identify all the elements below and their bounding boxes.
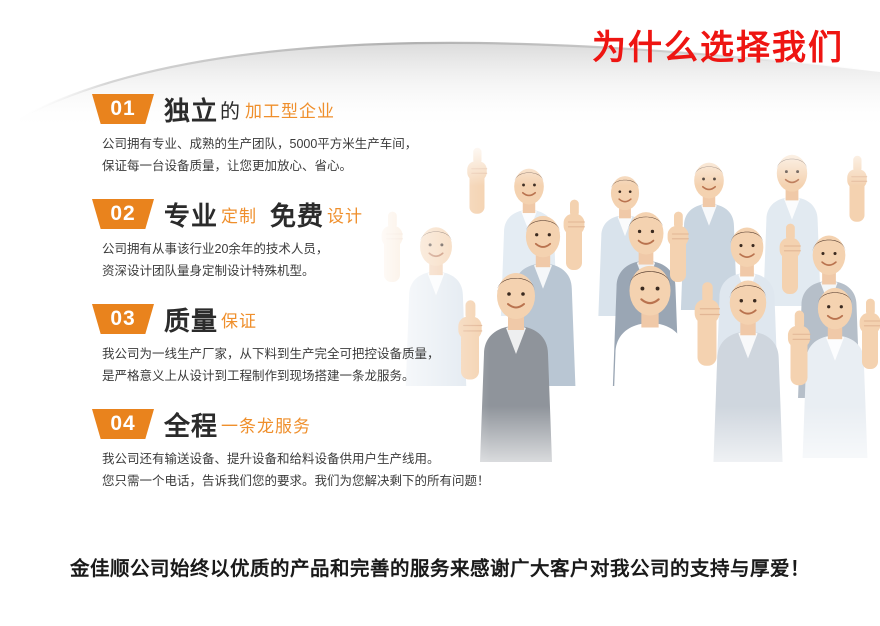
feature-body: 公司拥有从事该行业20余年的技术人员， 资深设计团队量身定制设计特殊机型。 xyxy=(92,238,492,282)
feature-body-line: 保证每一台设备质量，让您更加放心、省心。 xyxy=(102,155,492,177)
feature-body: 公司拥有专业、成熟的生产团队，5000平方米生产车间， 保证每一台设备质量，让您… xyxy=(92,133,492,177)
page-title: 为什么选择我们 xyxy=(0,26,844,70)
feature-body: 我公司为一线生产厂家，从下料到生产完全可把控设备质量， 是严格意义上从设计到工程… xyxy=(92,343,492,387)
feature-title-accent: 保证 xyxy=(221,307,257,332)
feature-item-04: 04 全程 一条龙服务 我公司还有输送设备、提升设备和给料设备供用户生产线用。 … xyxy=(92,407,492,492)
poster-root: 为什么选择我们 xyxy=(0,0,880,626)
feature-body-line: 是严格意义上从设计到工程制作到现场搭建一条龙服务。 xyxy=(102,365,492,387)
feature-item-03: 03 质量 保证 我公司为一线生产厂家，从下料到生产完全可把控设备质量， 是严格… xyxy=(92,302,492,387)
feature-number-badge: 01 xyxy=(92,94,154,124)
feature-number-badge: 03 xyxy=(92,304,154,334)
feature-title-main-2: 免费 xyxy=(270,196,324,233)
feature-title-main: 独立 xyxy=(164,91,218,128)
feature-title-accent: 一条龙服务 xyxy=(221,412,311,437)
feature-title-accent-2: 设计 xyxy=(327,202,363,227)
feature-body-line: 您只需一个电话，告诉我们您的要求。我们为您解决剩下的所有问题！ xyxy=(102,470,492,492)
feature-heading: 01 独立 的 加工型企业 xyxy=(92,92,492,126)
feature-item-02: 02 专业 定制 免费 设计 公司拥有从事该行业20余年的技术人员， 资深设计团… xyxy=(92,197,492,282)
feature-body: 我公司还有输送设备、提升设备和给料设备供用户生产线用。 您只需一个电话，告诉我们… xyxy=(92,448,492,492)
feature-number-badge: 04 xyxy=(92,409,154,439)
feature-title-main: 专业 xyxy=(164,196,218,233)
feature-title-accent: 加工型企业 xyxy=(245,97,335,122)
feature-body-line: 公司拥有从事该行业20余年的技术人员， xyxy=(102,238,492,260)
feature-heading: 02 专业 定制 免费 设计 xyxy=(92,197,492,231)
feature-body-line: 我公司还有输送设备、提升设备和给料设备供用户生产线用。 xyxy=(102,448,492,470)
feature-title-mid: 的 xyxy=(220,95,240,124)
feature-list: 01 独立 的 加工型企业 公司拥有专业、成熟的生产团队，5000平方米生产车间… xyxy=(92,92,492,492)
feature-title-main: 质量 xyxy=(164,301,218,338)
feature-body-line: 公司拥有专业、成熟的生产团队，5000平方米生产车间， xyxy=(102,133,492,155)
feature-item-01: 01 独立 的 加工型企业 公司拥有专业、成熟的生产团队，5000平方米生产车间… xyxy=(92,92,492,177)
feature-number-badge: 02 xyxy=(92,199,154,229)
feature-body-line: 资深设计团队量身定制设计特殊机型。 xyxy=(102,260,492,282)
feature-body-line: 我公司为一线生产厂家，从下料到生产完全可把控设备质量， xyxy=(102,343,492,365)
feature-title-accent: 定制 xyxy=(221,202,257,227)
feature-heading: 03 质量 保证 xyxy=(92,302,492,336)
footer-tagline: 金佳顺公司始终以优质的产品和完善的服务来感谢广大客户对我公司的支持与厚爱！ xyxy=(0,552,880,581)
feature-title-main: 全程 xyxy=(164,406,218,443)
feature-heading: 04 全程 一条龙服务 xyxy=(92,407,492,441)
